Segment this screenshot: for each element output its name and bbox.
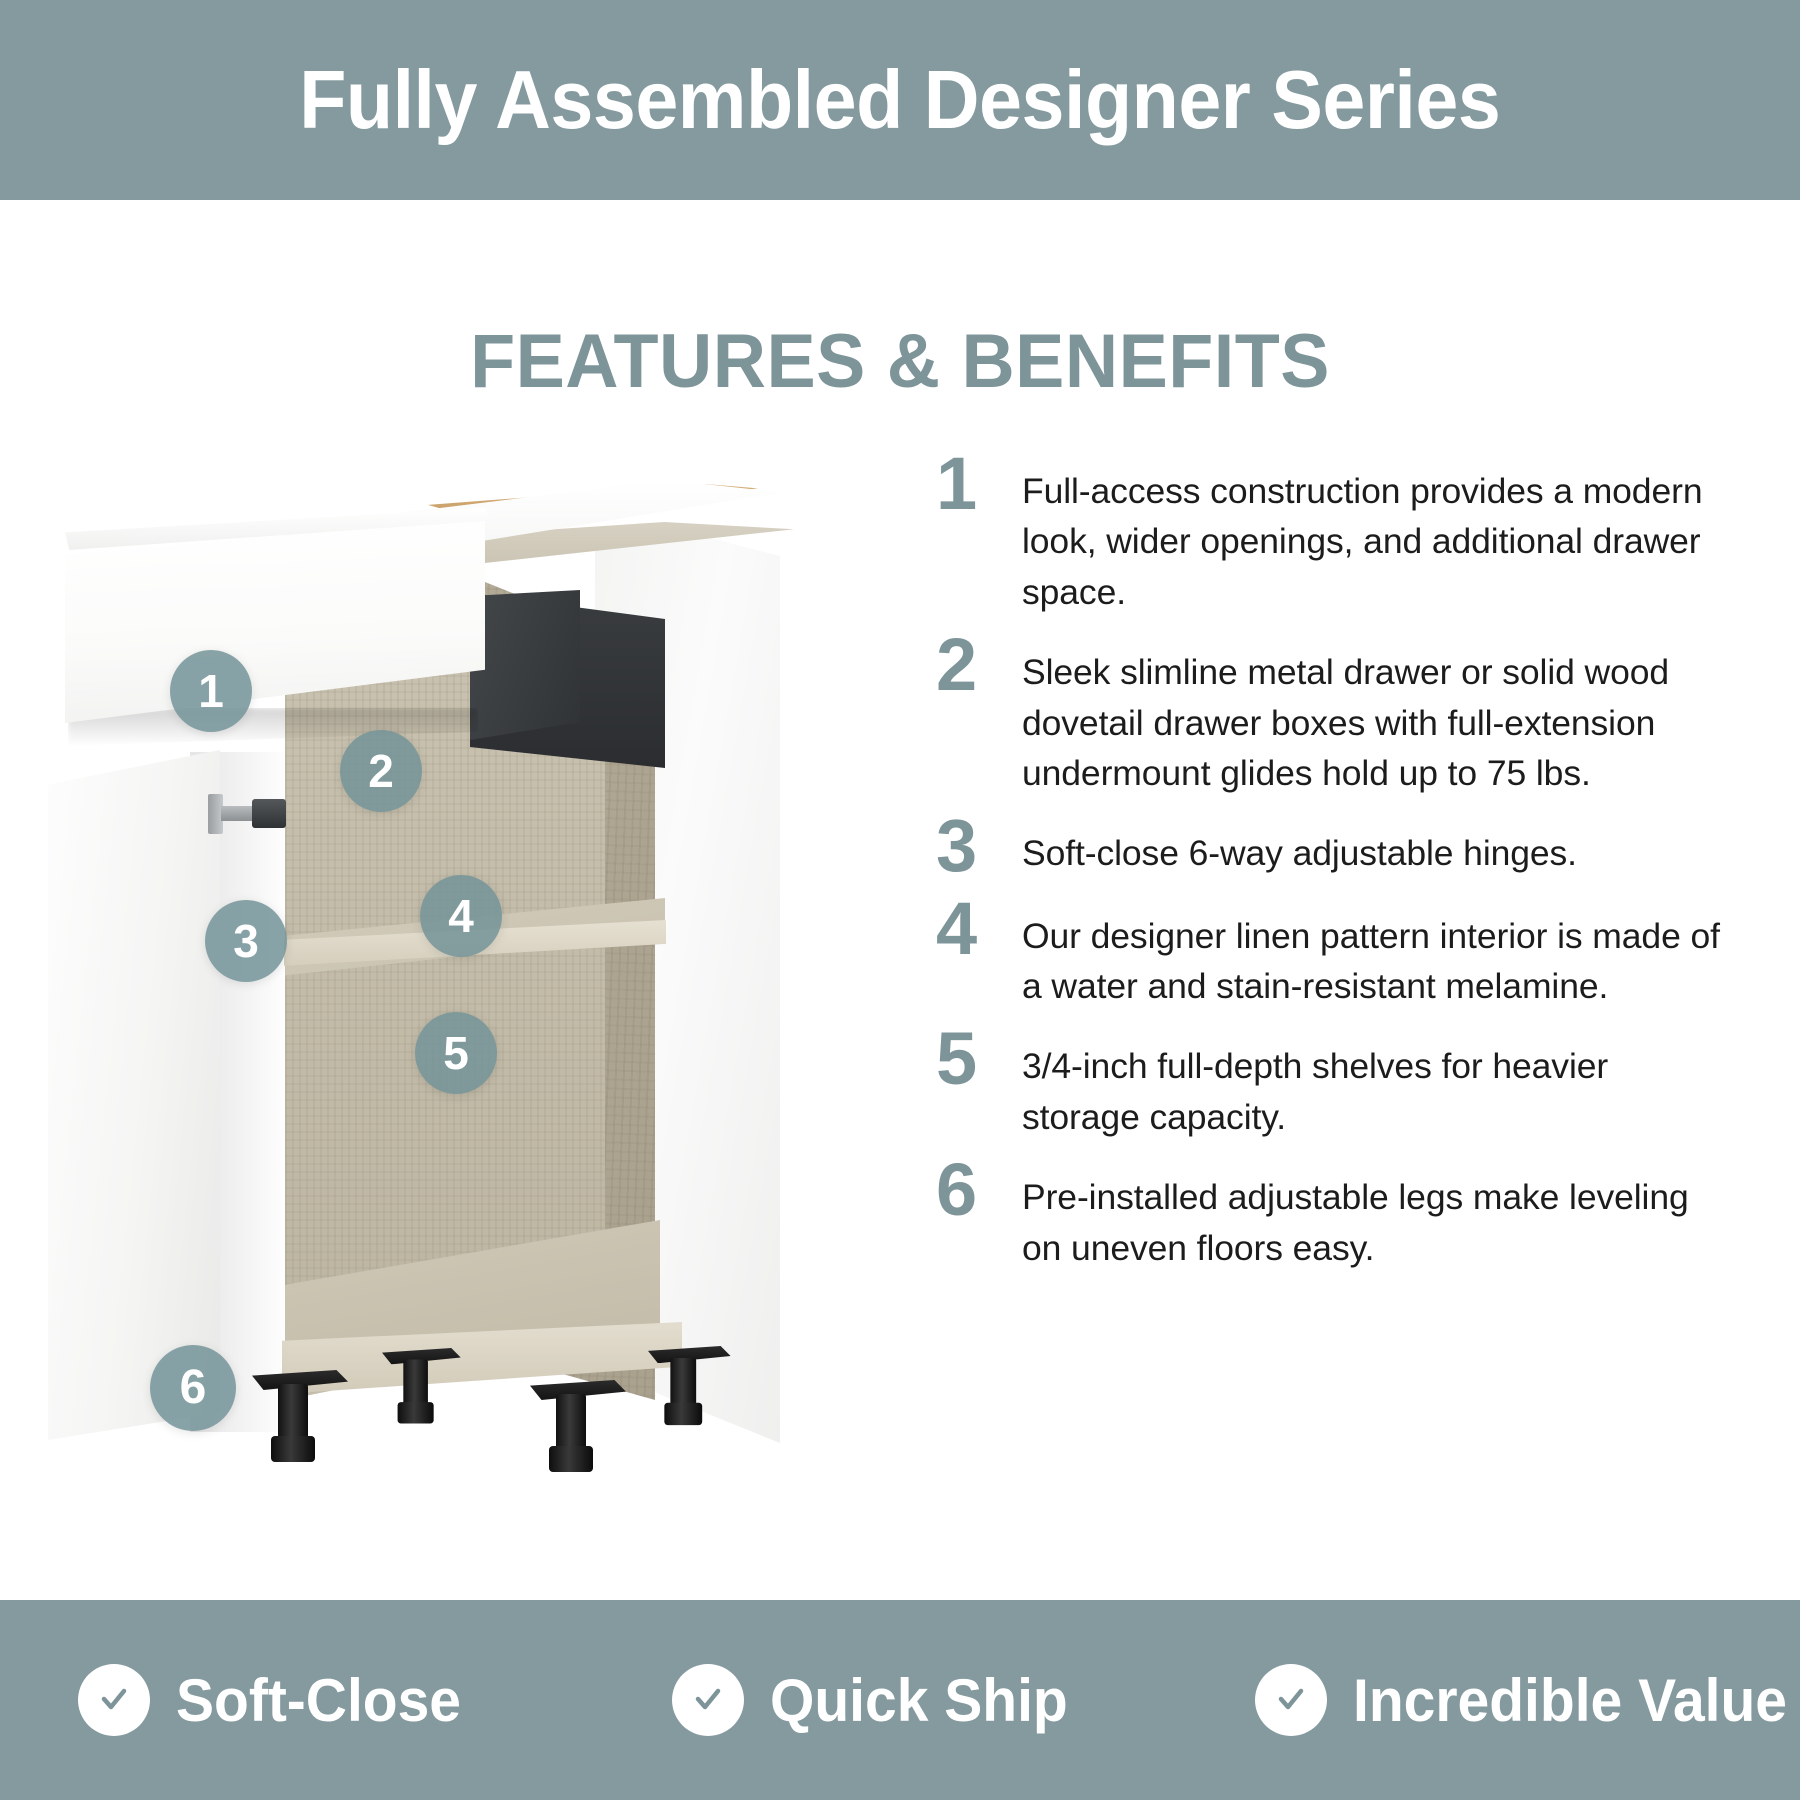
feature-item: 1 Full-access construction provides a mo… [930,450,1720,617]
main-content: 123456 1 Full-access construction provid… [0,200,1800,1600]
feature-item: 4 Our designer linen pattern interior is… [930,895,1720,1012]
callout-badge-4: 4 [420,875,502,957]
callout-badge-3: 3 [205,900,287,982]
page-title: Fully Assembled Designer Series [299,52,1500,148]
footer-badge-label: Incredible Value [1353,1666,1787,1735]
footer-bar: Soft-Close Quick Ship Incredible Value [0,1600,1800,1800]
feature-description: Sleek slimline metal drawer or solid woo… [1022,631,1720,798]
feature-number: 5 [930,1025,1022,1093]
hinge-cup [252,799,286,828]
cabinet-door-panel [48,750,220,1440]
feature-number: 1 [930,450,1022,518]
header-bar: Fully Assembled Designer Series [0,0,1800,200]
footer-badge-label: Soft-Close [176,1666,461,1735]
check-circle-icon [78,1664,150,1736]
feature-number: 6 [930,1156,1022,1224]
leg-foot [664,1403,702,1425]
feature-item: 6 Pre-installed adjustable legs make lev… [930,1156,1720,1273]
leg-foot [271,1436,315,1462]
footer-badge-label: Quick Ship [770,1666,1068,1735]
callout-badge-6: 6 [150,1345,236,1431]
leg-foot [549,1446,593,1472]
feature-description: Full-access construction provides a mode… [1022,450,1720,617]
feature-item: 3 Soft-close 6-way adjustable hinges. [930,812,1720,880]
soft-close-hinge-upper [208,792,286,836]
footer-badge-soft-close: Soft-Close [78,1664,476,1736]
features-list: 1 Full-access construction provides a mo… [930,450,1720,1287]
callout-badge-1: 1 [170,650,252,732]
feature-item: 2 Sleek slimline metal drawer or solid w… [930,631,1720,798]
leg-foot [398,1402,434,1423]
feature-item: 5 3/4-inch full-depth shelves for heavie… [930,1025,1720,1142]
footer-badge-quick-ship: Quick Ship [672,1664,1083,1736]
footer-badge-incredible-value: Incredible Value [1255,1664,1800,1736]
feature-description: Pre-installed adjustable legs make level… [1022,1156,1720,1273]
feature-description: Soft-close 6-way adjustable hinges. [1022,812,1720,878]
check-circle-icon [672,1664,744,1736]
callout-badge-5: 5 [415,1012,497,1094]
callout-badge-2: 2 [340,730,422,812]
metal-drawer-side [470,590,580,740]
feature-number: 4 [930,895,1022,963]
feature-number: 2 [930,631,1022,699]
feature-description: Our designer linen pattern interior is m… [1022,895,1720,1012]
hinge-arm [221,806,255,821]
check-circle-icon [1255,1664,1327,1736]
feature-number: 3 [930,812,1022,880]
feature-description: 3/4-inch full-depth shelves for heavier … [1022,1025,1720,1142]
